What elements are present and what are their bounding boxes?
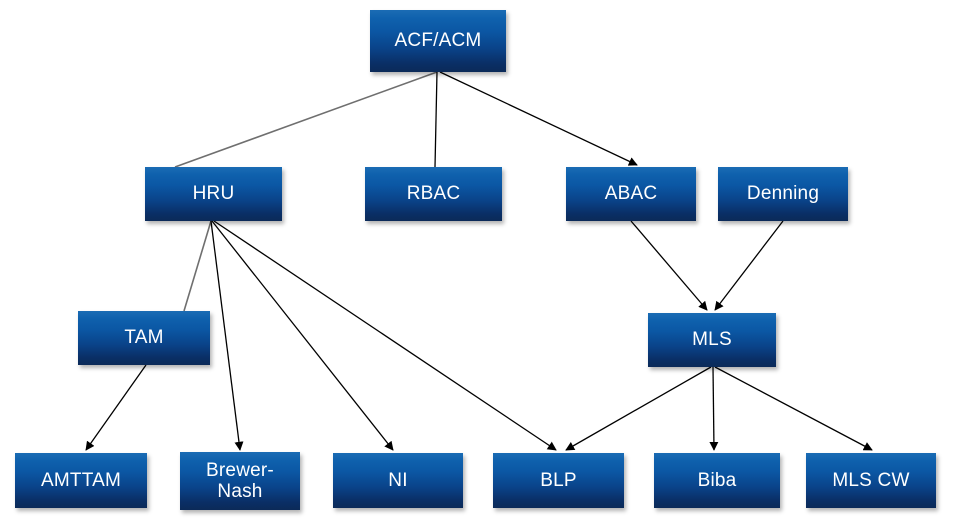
node-label-ni: NI (337, 470, 459, 491)
edge-denning-to-mls (715, 221, 783, 310)
node-denning[interactable]: Denning (718, 167, 848, 221)
node-label-rbac: RBAC (369, 183, 498, 204)
node-blp[interactable]: BLP (493, 453, 624, 508)
node-mls[interactable]: MLS (648, 313, 776, 367)
diagram-canvas: ACF/ACMHRURBACABACDenningTAMMLSAMTTAMBre… (0, 0, 955, 521)
node-ni[interactable]: NI (333, 453, 463, 508)
edge-acf_acm-to-rbac (435, 72, 437, 167)
edge-mls-to-biba (713, 367, 714, 450)
edge-mls-to-blp (566, 367, 711, 450)
node-acf_acm[interactable]: ACF/ACM (370, 10, 506, 72)
node-label-mls: MLS (652, 329, 772, 350)
edge-layer (0, 0, 955, 521)
edge-hru-to-brewer_nash (211, 221, 240, 450)
node-label-acf_acm: ACF/ACM (374, 30, 502, 51)
edge-abac-to-mls (631, 221, 707, 310)
node-label-blp: BLP (497, 470, 620, 491)
node-abac[interactable]: ABAC (566, 167, 696, 221)
node-label-denning: Denning (722, 183, 844, 204)
node-label-tam: TAM (82, 327, 206, 348)
node-label-hru: HRU (149, 183, 278, 204)
node-label-mls_cw: MLS CW (810, 470, 932, 491)
node-label-biba: Biba (658, 470, 776, 491)
node-amttam[interactable]: AMTTAM (15, 453, 147, 508)
edge-hru-to-blp (214, 221, 556, 450)
edge-hru-to-tam (184, 221, 211, 311)
node-rbac[interactable]: RBAC (365, 167, 502, 221)
edge-acf_acm-to-hru (175, 72, 437, 167)
node-tam[interactable]: TAM (78, 311, 210, 365)
node-mls_cw[interactable]: MLS CW (806, 453, 936, 508)
edge-mls-to-mls_cw (715, 367, 872, 450)
node-brewer_nash[interactable]: Brewer- Nash (180, 452, 300, 510)
edge-tam-to-amttam (86, 365, 146, 450)
edge-acf_acm-to-abac (440, 72, 637, 165)
node-label-abac: ABAC (570, 183, 692, 204)
node-hru[interactable]: HRU (145, 167, 282, 221)
node-label-amttam: AMTTAM (19, 470, 143, 491)
edge-hru-to-ni (212, 221, 393, 450)
node-biba[interactable]: Biba (654, 453, 780, 508)
node-label-brewer_nash: Brewer- Nash (184, 460, 296, 503)
